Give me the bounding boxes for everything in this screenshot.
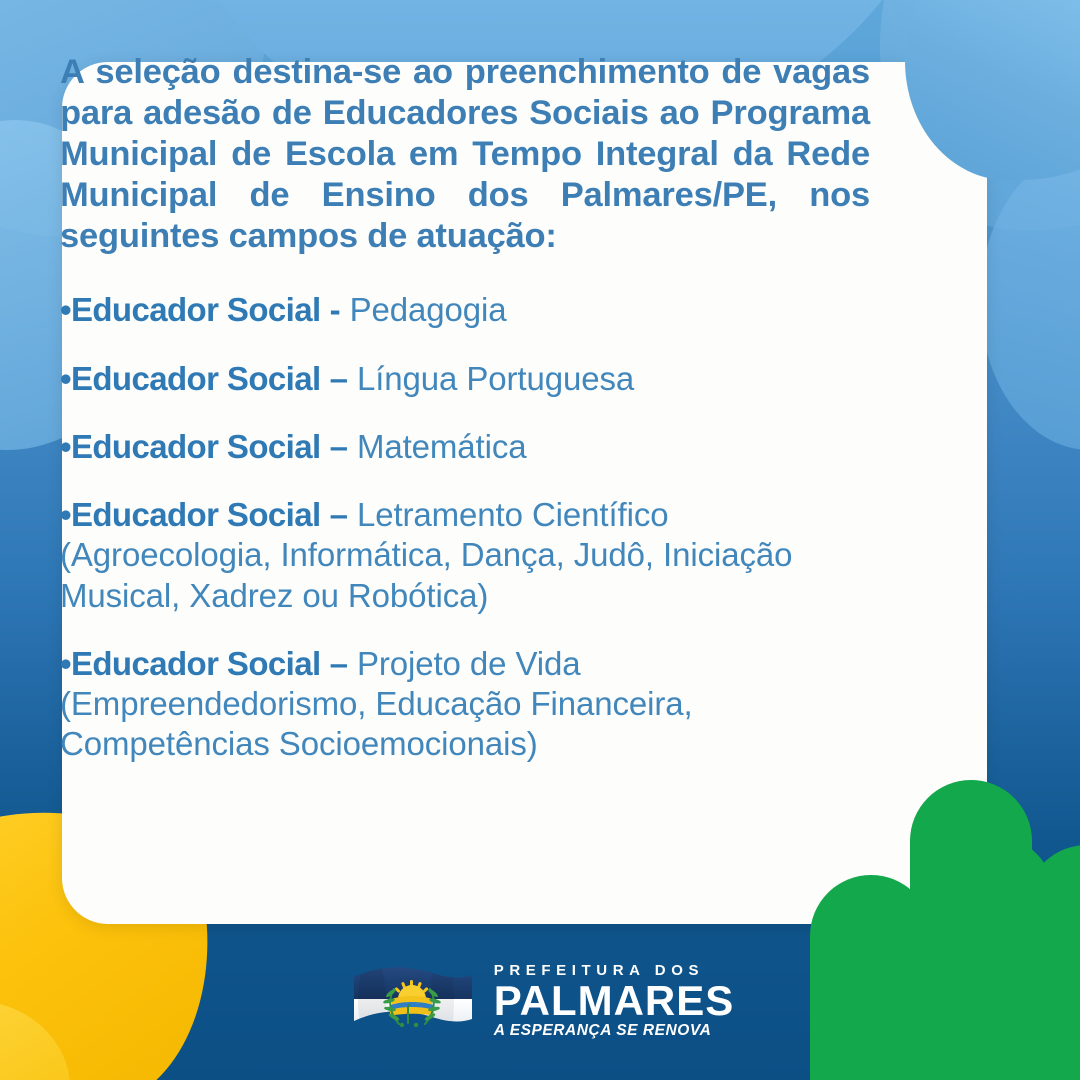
logo-line-slogan: A ESPERANÇA SE RENOVA	[494, 1023, 735, 1039]
field-role-label: Educador Social	[71, 428, 321, 465]
field-role-label: Educador Social	[71, 360, 321, 397]
card-content: A seleção destina-se ao preenchimento de…	[60, 52, 870, 765]
fields-list: •Educador Social - Pedagogia•Educador So…	[60, 290, 870, 764]
field-dash: –	[321, 428, 357, 465]
field-subject: Pedagogia	[350, 291, 507, 328]
logo-line-prefeitura: PREFEITURA DOS	[494, 963, 735, 978]
field-subject: Matemática	[357, 428, 527, 465]
field-item: •Educador Social – Matemática	[60, 427, 870, 467]
bullet-marker: •	[60, 360, 71, 397]
field-dash: –	[321, 645, 357, 682]
palmares-flag-icon	[346, 961, 478, 1043]
bullet-marker: •	[60, 291, 71, 328]
bullet-marker: •	[60, 645, 71, 682]
field-item: •Educador Social – Língua Portuguesa	[60, 359, 870, 399]
field-item: •Educador Social – Projeto de Vida (Empr…	[60, 644, 870, 765]
field-subject: Língua Portuguesa	[357, 360, 634, 397]
field-subject: Letramento Científico	[357, 496, 669, 533]
bullet-marker: •	[60, 428, 71, 465]
field-dash: -	[321, 291, 350, 328]
field-item: •Educador Social – Letramento Científico…	[60, 495, 870, 616]
field-role-label: Educador Social	[71, 645, 321, 682]
field-detail: (Agroecologia, Informática, Dança, Judô,…	[60, 536, 792, 613]
bullet-marker: •	[60, 496, 71, 533]
field-dash: –	[321, 360, 357, 397]
field-dash: –	[321, 496, 357, 533]
prefeitura-logo: PREFEITURA DOS PALMARES A ESPERANÇA SE R…	[346, 961, 735, 1043]
poster-canvas: A seleção destina-se ao preenchimento de…	[0, 0, 1080, 1080]
field-subject: Projeto de Vida	[357, 645, 581, 682]
field-detail: (Empreendedorismo, Educação Financeira, …	[60, 685, 693, 762]
intro-paragraph: A seleção destina-se ao preenchimento de…	[60, 52, 870, 256]
logo-line-palmares: PALMARES	[494, 981, 735, 1021]
field-role-label: Educador Social	[71, 496, 321, 533]
logo-wordmark: PREFEITURA DOS PALMARES A ESPERANÇA SE R…	[494, 963, 735, 1040]
footer-bar: PREFEITURA DOS PALMARES A ESPERANÇA SE R…	[0, 924, 1080, 1080]
decorative-blob-top-right-2	[980, 150, 1080, 450]
field-item: •Educador Social - Pedagogia	[60, 290, 870, 330]
field-role-label: Educador Social	[71, 291, 321, 328]
